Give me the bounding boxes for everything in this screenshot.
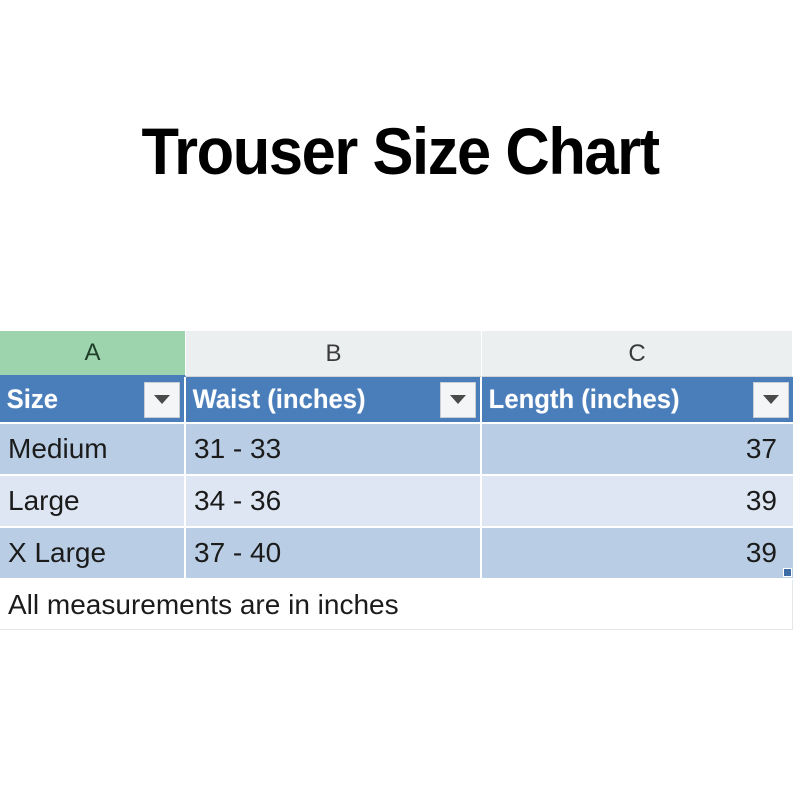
- filter-dropdown-length[interactable]: [753, 382, 789, 418]
- cell-size-medium[interactable]: Medium: [0, 424, 186, 476]
- footer-note: All measurements are in inches: [0, 580, 793, 630]
- cell-waist-large[interactable]: 34 - 36: [186, 476, 482, 528]
- table-row[interactable]: Large 34 - 36 39: [0, 476, 793, 528]
- page-title: Trouser Size Chart: [141, 118, 658, 184]
- table-header-label-waist: Waist (inches): [186, 384, 366, 415]
- filter-dropdown-waist[interactable]: [440, 382, 476, 418]
- footer-note-row: All measurements are in inches: [0, 580, 793, 630]
- cell-length-large[interactable]: 39: [482, 476, 793, 528]
- cell-size-large[interactable]: Large: [0, 476, 186, 528]
- page-title-container: Trouser Size Chart: [0, 118, 800, 184]
- table-header-label-size: Size: [0, 384, 58, 415]
- cell-length-xlarge[interactable]: 39: [482, 528, 793, 580]
- table-header-label-length: Length (inches): [482, 384, 680, 415]
- cell-length-xlarge-value: 39: [746, 537, 777, 569]
- column-header-a[interactable]: A: [0, 331, 186, 377]
- table-header-row: Size Waist (inches) Length (inches): [0, 377, 793, 424]
- column-letter-header-row: A B C: [0, 331, 793, 377]
- table-header-cell-length: Length (inches): [482, 377, 793, 424]
- spreadsheet-table: A B C Size Waist (inches) Length (inches…: [0, 331, 793, 630]
- cell-waist-xlarge[interactable]: 37 - 40: [186, 528, 482, 580]
- column-header-b[interactable]: B: [186, 331, 482, 377]
- chevron-down-icon: [763, 395, 779, 404]
- chevron-down-icon: [154, 395, 170, 404]
- chevron-down-icon: [450, 395, 466, 404]
- selection-fill-handle[interactable]: [783, 568, 792, 577]
- cell-length-medium[interactable]: 37: [482, 424, 793, 476]
- table-row[interactable]: X Large 37 - 40 39: [0, 528, 793, 580]
- table-header-cell-size: Size: [0, 377, 186, 424]
- column-header-c[interactable]: C: [482, 331, 793, 377]
- cell-size-xlarge[interactable]: X Large: [0, 528, 186, 580]
- cell-waist-medium[interactable]: 31 - 33: [186, 424, 482, 476]
- table-row[interactable]: Medium 31 - 33 37: [0, 424, 793, 476]
- table-header-cell-waist: Waist (inches): [186, 377, 482, 424]
- filter-dropdown-size[interactable]: [144, 382, 180, 418]
